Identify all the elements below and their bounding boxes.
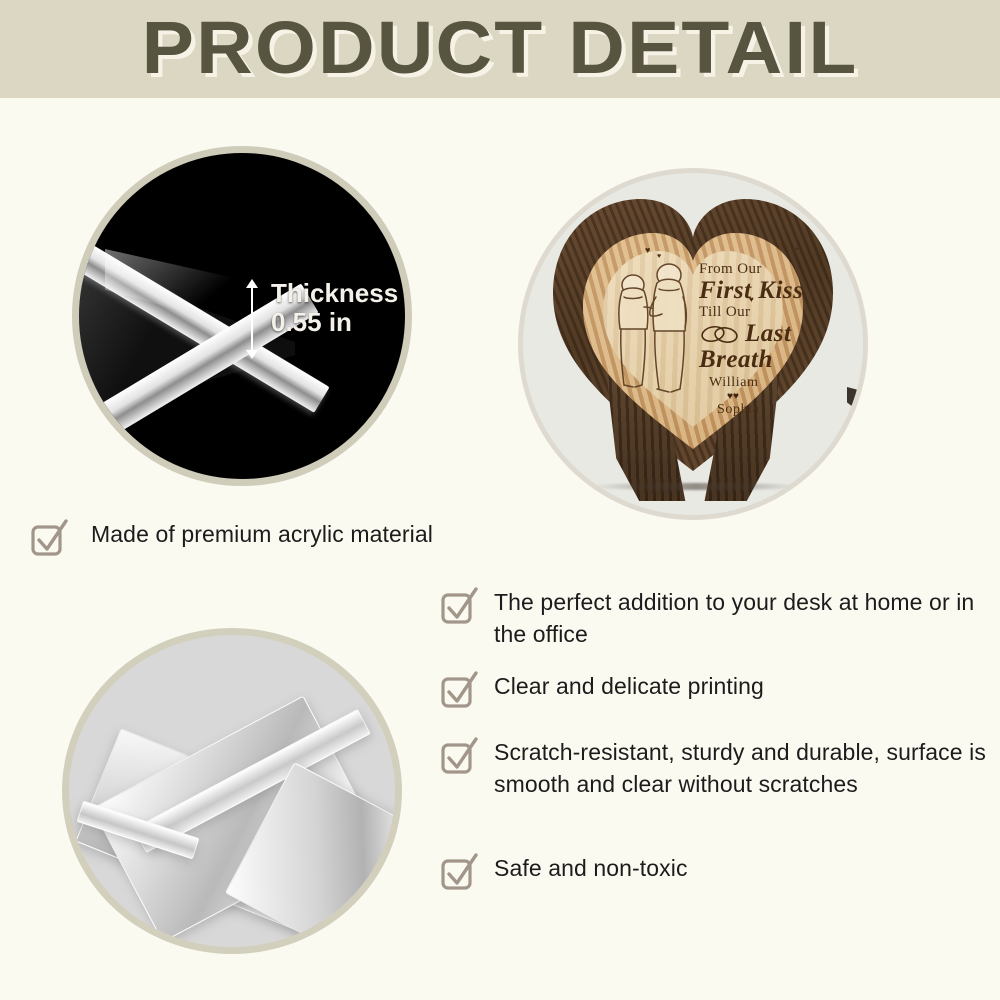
photo-heart-plaque: ♥ ♥ ♥ ♥ ♥ <box>518 168 868 520</box>
photo-acrylic-sheets <box>62 628 402 954</box>
stand-notch <box>847 387 859 409</box>
plaque-base-shadow <box>589 483 803 490</box>
feature-scratch-resistant: Scratch-resistant, sturdy and durable, s… <box>440 736 988 800</box>
double-arrow-vertical-icon <box>251 287 253 351</box>
feature-premium-acrylic: Made of premium acrylic material <box>30 518 460 558</box>
checkbox-checked-icon <box>440 736 480 776</box>
decorative-heart-icon: ♥ <box>645 245 650 255</box>
feature-clear-printing: Clear and delicate printing <box>440 670 988 710</box>
plaque-line-5: Breath <box>699 347 827 373</box>
plaque-engraved-text: From Our First Kiss Till Our Last Breath… <box>699 261 827 418</box>
heart-plaque: ♥ ♥ ♥ ♥ ♥ <box>549 183 837 501</box>
checkbox-checked-icon <box>440 586 480 626</box>
thickness-value: 0.55 in <box>271 308 398 337</box>
feature-label: Scratch-resistant, sturdy and durable, s… <box>494 736 988 800</box>
checkbox-checked-icon <box>30 518 70 558</box>
thickness-callout: Thickness 0.55 in <box>271 279 398 337</box>
thickness-label: Thickness <box>271 279 398 308</box>
feature-label: The perfect addition to your desk at hom… <box>494 586 988 650</box>
plaque-heart-divider: ♥♥ <box>727 391 827 402</box>
feature-label: Clear and delicate printing <box>494 670 764 702</box>
checkbox-checked-icon <box>440 670 480 710</box>
feature-desk-addition: The perfect addition to your desk at hom… <box>440 586 988 650</box>
page-title: PRODUCT DETAIL <box>0 8 1000 88</box>
decorative-heart-icon: ♥ <box>781 241 786 250</box>
plaque-line-3: Till Our <box>699 304 827 321</box>
elderly-couple-illustration <box>607 257 699 397</box>
plaque-line-2: First Kiss <box>699 278 827 304</box>
feature-safe-non-toxic: Safe and non-toxic <box>440 852 988 892</box>
product-detail-page: PRODUCT DETAIL Thickness 0.55 in ♥ ♥ ♥ ♥… <box>0 0 1000 1000</box>
plaque-line-1: From Our <box>699 261 827 278</box>
decorative-heart-icon: ♥ <box>795 247 799 253</box>
plaque-name-2: Sophia <box>717 402 827 418</box>
feature-label: Safe and non-toxic <box>494 852 688 884</box>
checkbox-checked-icon <box>440 852 480 892</box>
photo-acrylic-edge-closeup: Thickness 0.55 in <box>72 146 412 486</box>
plaque-name-1: William <box>709 375 827 391</box>
feature-label: Made of premium acrylic material <box>84 518 440 550</box>
plaque-line-4: Last <box>745 321 827 347</box>
